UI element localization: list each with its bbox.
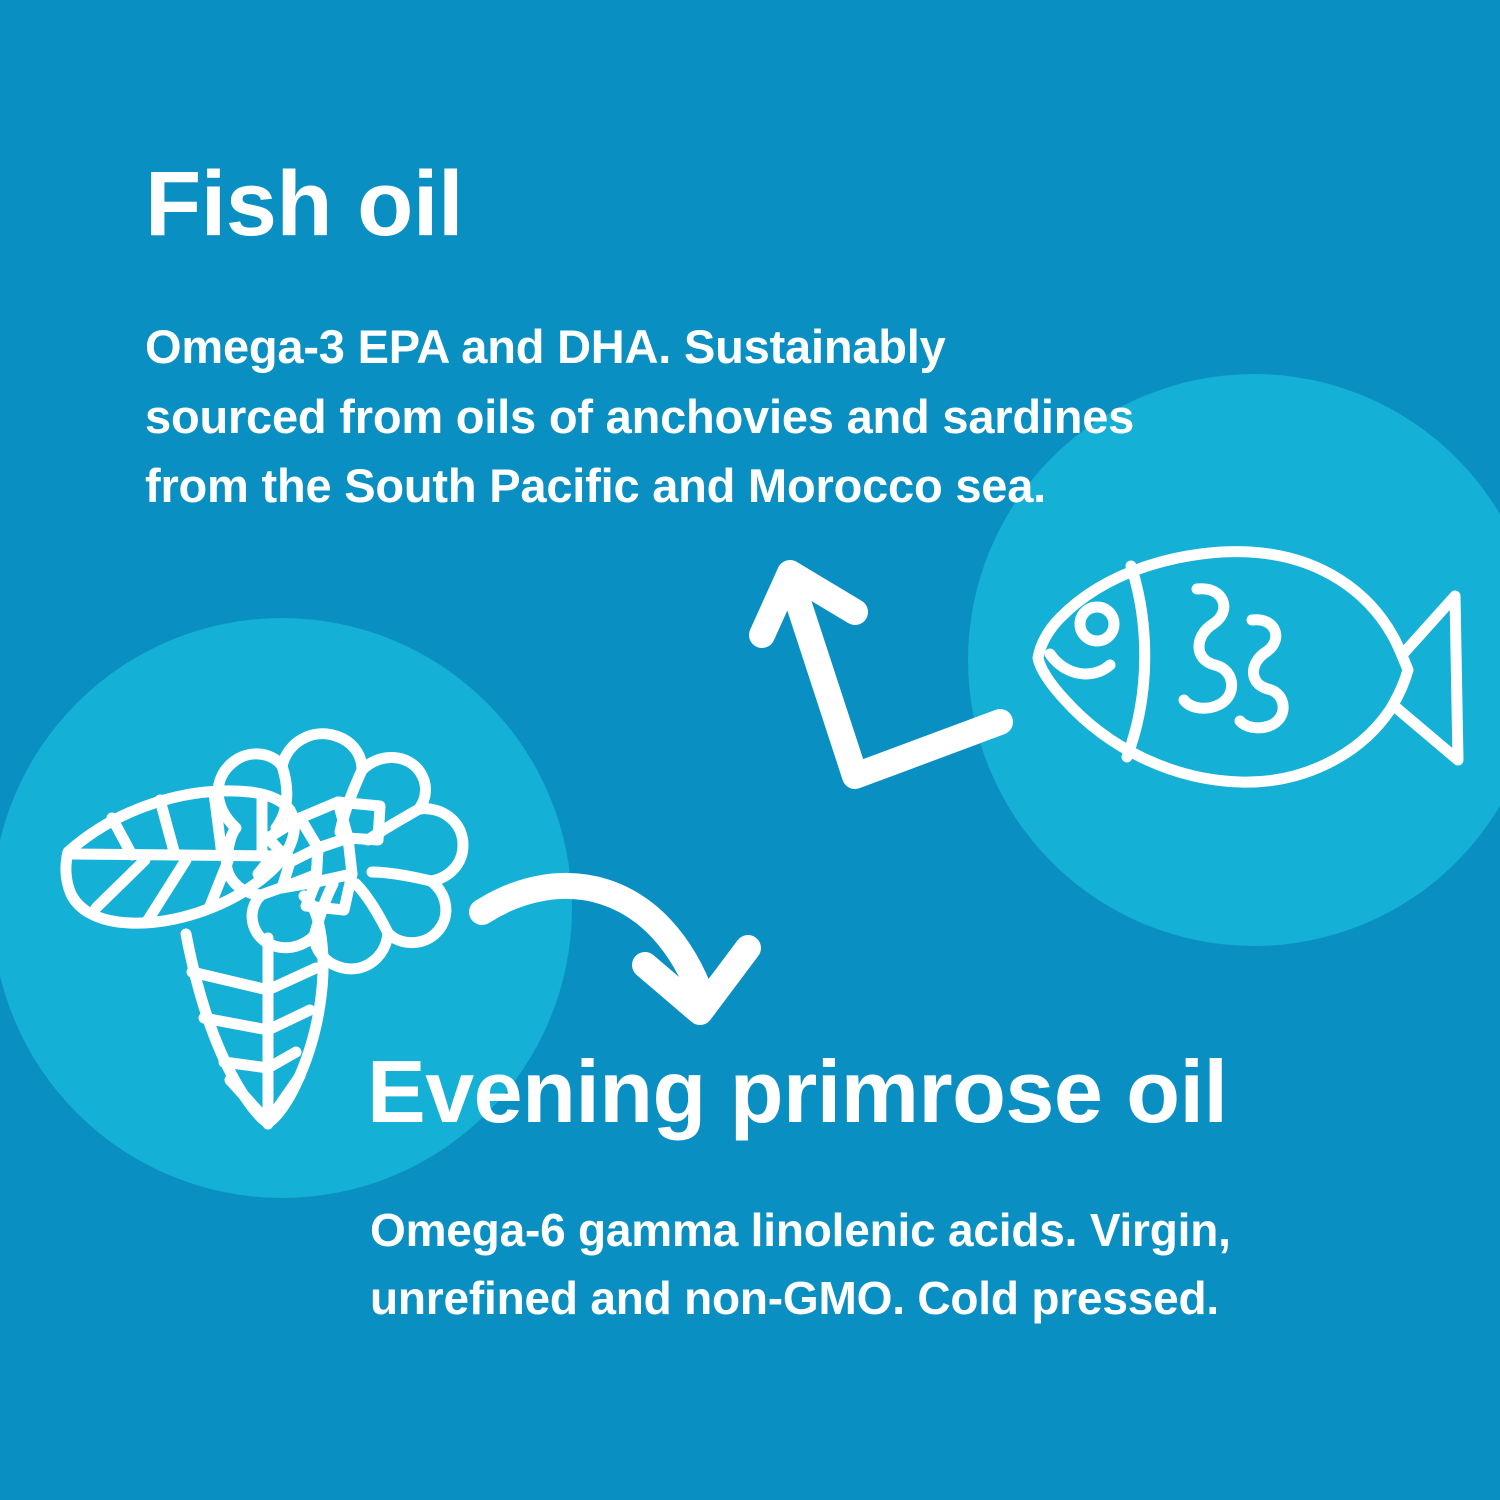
fish-oil-description-line-2: sourced from oils of anchovies and sardi… (145, 382, 1275, 452)
fish-oil-description: Omega-3 EPA and DHA. Sustainably sourced… (145, 312, 1275, 521)
evening-primrose-oil-description-line-1: Omega-6 gamma linolenic acids. Virgin, (370, 1196, 1430, 1264)
evening-primrose-oil-description: Omega-6 gamma linolenic acids. Virgin, u… (370, 1196, 1430, 1332)
evening-primrose-oil-description-line-2: unrefined and non-GMO. Cold pressed. (370, 1264, 1430, 1332)
fish-oil-description-line-3: from the South Pacific and Morocco sea. (145, 451, 1275, 521)
product-ingredients-infographic: Fish oil Omega-3 EPA and DHA. Sustainabl… (0, 0, 1500, 1500)
fish-oil-heading: Fish oil (145, 158, 463, 250)
evening-primrose-oil-heading: Evening primrose oil (367, 1048, 1227, 1136)
fish-oil-description-line-1: Omega-3 EPA and DHA. Sustainably (145, 312, 1275, 382)
arrow-up-left-to-fish (762, 573, 1000, 776)
